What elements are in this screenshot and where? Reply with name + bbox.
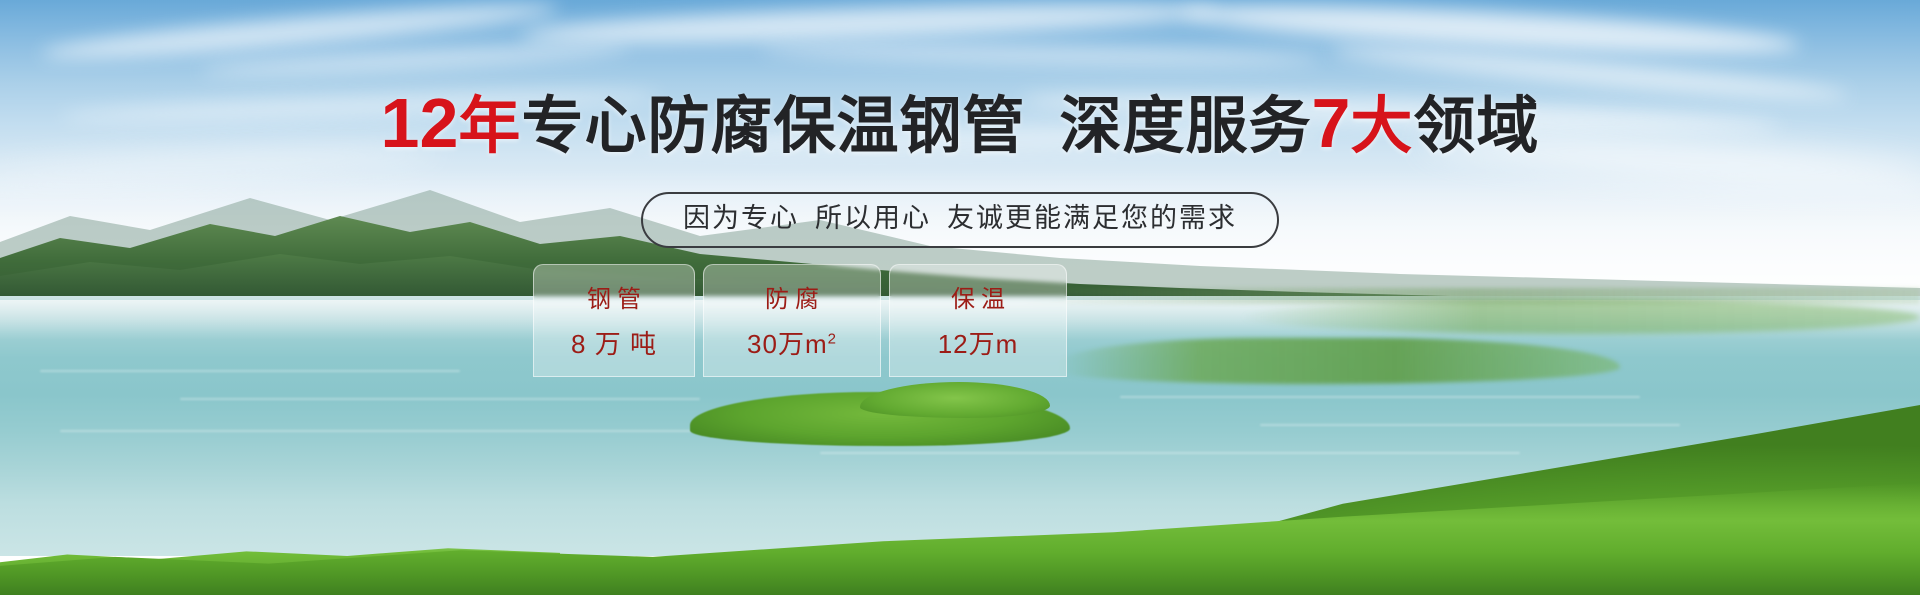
subtitle-part-3: 友诚更能满足您的需求: [947, 203, 1237, 233]
stat-card-insulation: 保温 12万m: [889, 264, 1067, 377]
stat-label: 保温: [945, 279, 1011, 314]
subtitle-part-1: 因为专心: [683, 203, 799, 233]
stat-value-exponent: 2: [828, 330, 837, 347]
banner-content: 12年专心防腐保温钢管深度服务7大领域 因为专心所以用心友诚更能满足您的需求 钢…: [0, 0, 1920, 595]
headline-service-text: 深度服务: [1059, 92, 1311, 161]
headline-years-number: 12: [381, 84, 459, 162]
subtitle-part-2: 所以用心: [815, 203, 931, 233]
stat-value: 30万m2: [747, 324, 837, 361]
headline-years-unit: 年: [458, 92, 521, 161]
stat-card-group: 钢管 8 万 吨 防腐 30万m2 保温 12万m: [533, 264, 1067, 377]
hero-banner: 12年专心防腐保温钢管深度服务7大领域 因为专心所以用心友诚更能满足您的需求 钢…: [0, 0, 1920, 595]
banner-subtitle-pill: 因为专心所以用心友诚更能满足您的需求: [641, 192, 1279, 248]
headline-fields-unit: 大: [1350, 92, 1413, 161]
stat-card-steel-pipe: 钢管 8 万 吨: [533, 264, 695, 377]
headline-main-text: 专心防腐保温钢管: [521, 92, 1025, 161]
stat-value: 8 万 吨: [571, 324, 657, 361]
banner-headline: 12年专心防腐保温钢管深度服务7大领域: [0, 88, 1920, 158]
headline-fields-number: 7: [1311, 84, 1350, 162]
stat-value-text: 12万m: [938, 329, 1019, 359]
stat-value-text: 8 万 吨: [571, 329, 657, 359]
banner-subtitle-wrapper: 因为专心所以用心友诚更能满足您的需求: [0, 192, 1920, 248]
stat-label: 防腐: [759, 279, 825, 314]
stat-value-text: 30万m: [747, 329, 828, 359]
stat-label: 钢管: [581, 279, 647, 314]
stat-card-anticorrosion: 防腐 30万m2: [703, 264, 881, 377]
stat-value: 12万m: [938, 324, 1019, 361]
headline-fields-text: 领域: [1413, 92, 1539, 161]
